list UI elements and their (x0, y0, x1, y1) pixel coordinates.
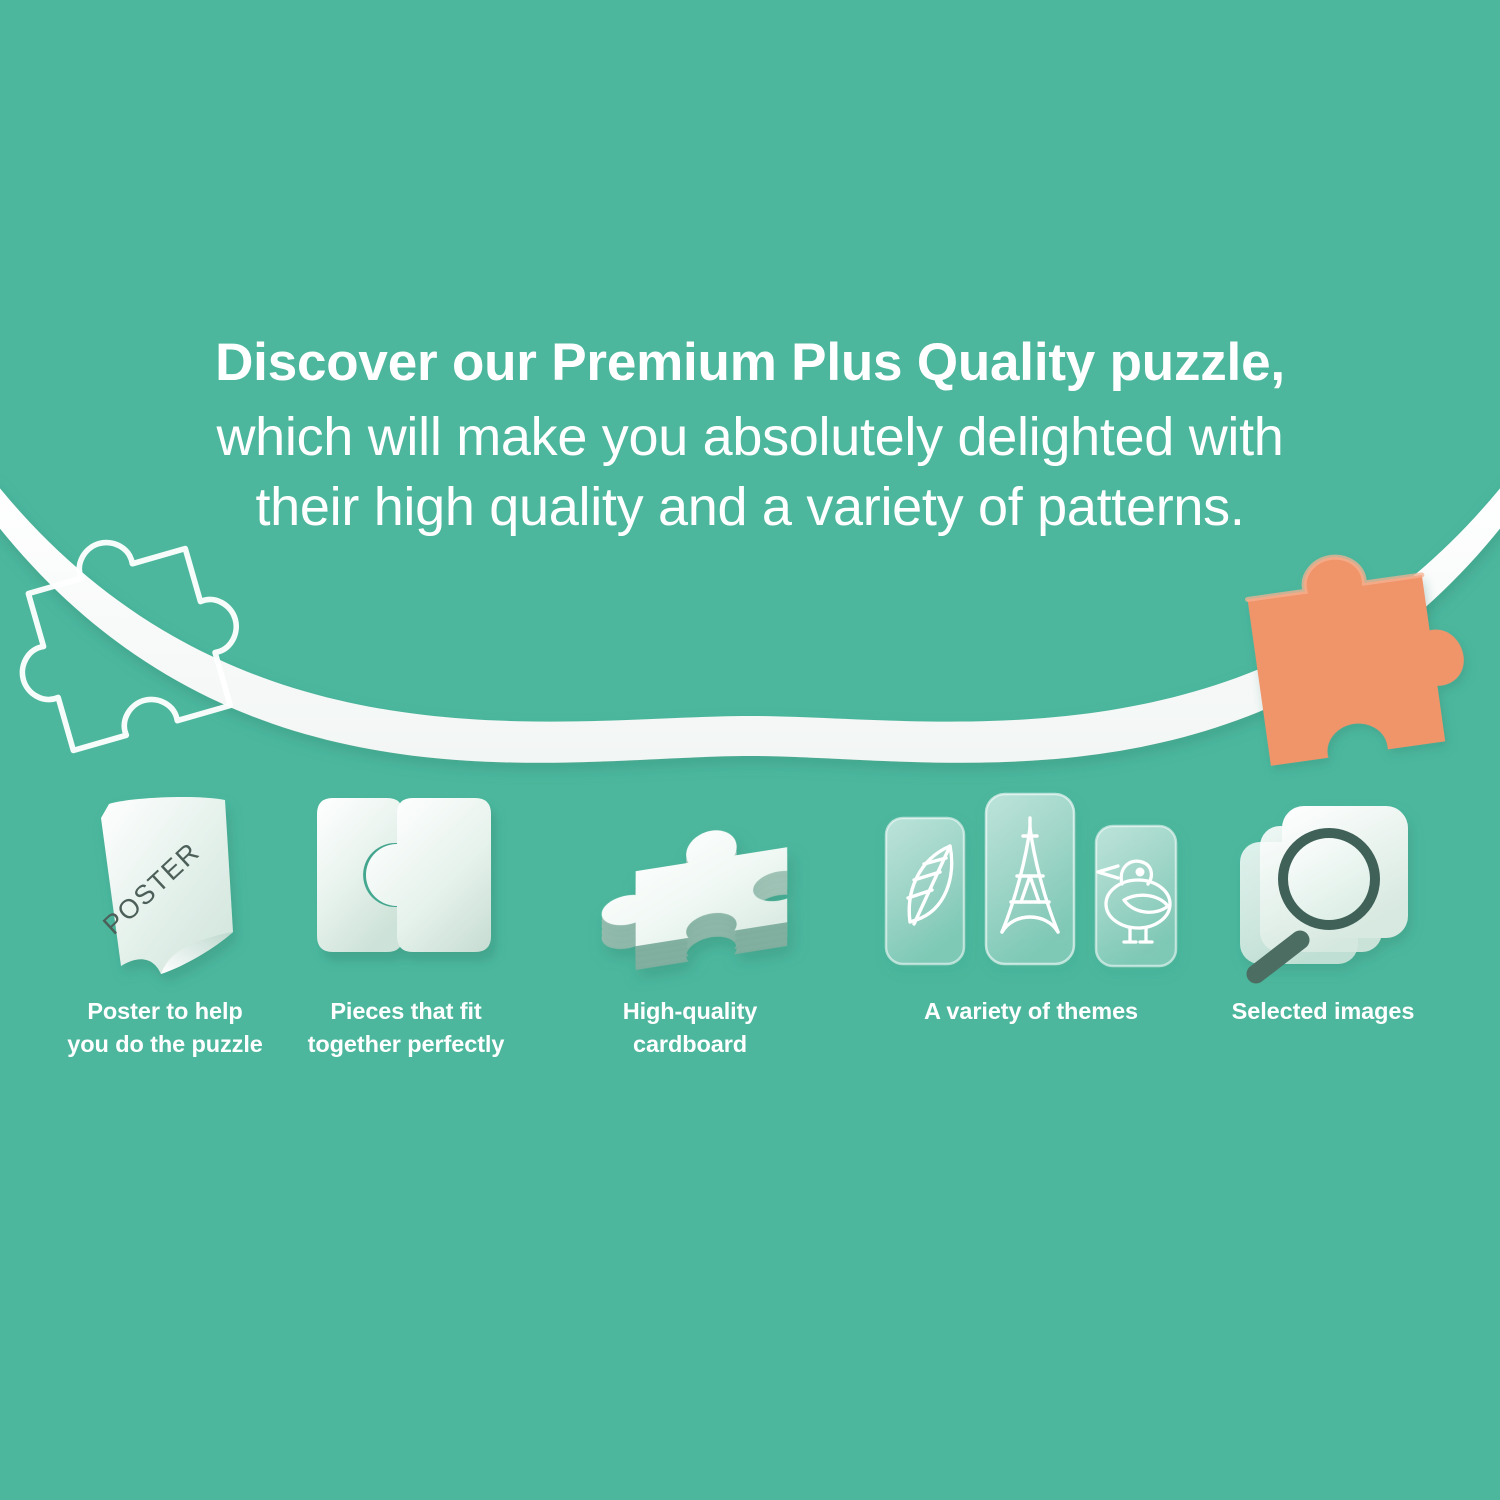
feature-item-fit: Pieces that fit together perfectly (276, 780, 536, 1062)
feature-item-themes: A variety of themes (861, 780, 1201, 1028)
feature-item-cardboard: High-quality cardboard (560, 780, 820, 1062)
page-title: Discover our Premium Plus Quality puzzle… (0, 336, 1500, 550)
feature-label: A variety of themes (861, 995, 1201, 1028)
image-stack-magnifier-icon (1193, 780, 1453, 995)
feature-item-poster: POSTER Poster to help you do the puzzle (35, 780, 295, 1062)
theme-cards-icon (861, 780, 1201, 995)
poster-sheet-icon: POSTER (35, 780, 295, 995)
feature-item-selected-images: Selected images (1193, 780, 1453, 1028)
headline-line-2: which will make you absolutely delighted… (0, 410, 1500, 480)
feature-label: Selected images (1193, 995, 1453, 1028)
theme-card-leaf (886, 818, 964, 964)
theme-card-tower (986, 794, 1074, 964)
thick-cardboard-piece-icon (560, 780, 820, 995)
theme-card-bird (1096, 826, 1176, 966)
promo-banner: Discover our Premium Plus Quality puzzle… (0, 0, 1500, 1500)
feature-label: Pieces that fit together perfectly (276, 995, 536, 1062)
feature-list: POSTER Poster to help you do the puzzle (0, 780, 1500, 1100)
two-interlocking-pieces-icon (276, 780, 536, 995)
feature-label: High-quality cardboard (560, 995, 820, 1062)
headline-line-3: their high quality and a variety of patt… (0, 480, 1500, 550)
puzzle-piece-orange-icon (1243, 541, 1475, 766)
feature-label: Poster to help you do the puzzle (35, 995, 295, 1062)
headline-line-1: Discover our Premium Plus Quality puzzle… (0, 336, 1500, 410)
decoration-layer (0, 0, 1500, 1500)
puzzle-piece-outline-icon (0, 513, 258, 758)
